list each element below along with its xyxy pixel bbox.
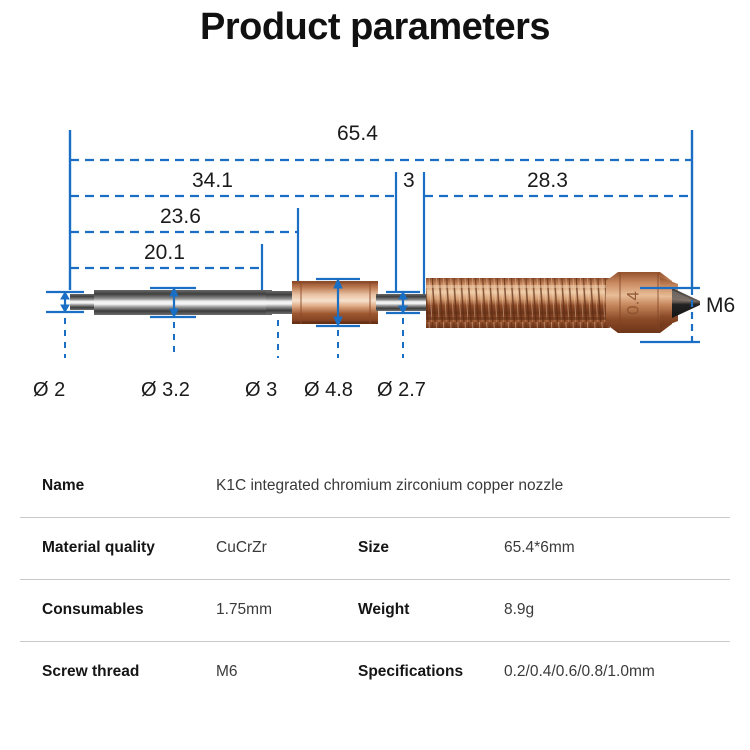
- part-threaded-section: [426, 278, 610, 328]
- dia-label-4-8: Ø 4.8: [304, 379, 353, 402]
- dim-label-34-1: 34.1: [192, 169, 233, 193]
- cell-value-weight: 8.9g: [504, 601, 534, 619]
- dim-label-20-1: 20.1: [144, 241, 185, 265]
- cell-value-size: 65.4*6mm: [504, 539, 575, 557]
- cell-value-consumables: 1.75mm: [216, 601, 272, 619]
- thread-label-m6: M6: [706, 294, 735, 318]
- cell-label-screw-thread: Screw thread: [42, 663, 139, 681]
- table-row: Name K1C integrated chromium zirconium c…: [0, 455, 750, 517]
- cell-label-weight: Weight: [358, 601, 409, 619]
- row-divider: [20, 641, 730, 642]
- cell-label-specifications: Specifications: [358, 663, 463, 681]
- row-divider: [20, 579, 730, 580]
- table-row: Consumables 1.75mm Weight 8.9g: [0, 579, 750, 641]
- cell-label-consumables: Consumables: [42, 601, 144, 619]
- drawing-canvas: 0.4: [0, 0, 750, 450]
- dim-label-23-6: 23.6: [160, 205, 201, 229]
- cell-value-name: K1C integrated chromium zirconium copper…: [216, 477, 563, 495]
- cell-label-material-quality: Material quality: [42, 539, 155, 557]
- cell-label-size: Size: [358, 539, 389, 557]
- nozzle-engraving-text: 0.4: [623, 291, 642, 315]
- dim-label-28-3: 28.3: [527, 169, 568, 193]
- dia-label-2: Ø 2: [33, 379, 65, 402]
- cell-label-name: Name: [42, 477, 84, 495]
- part-nozzle-head: 0.4: [606, 272, 700, 333]
- product-parameters-table: Name K1C integrated chromium zirconium c…: [0, 455, 750, 703]
- dim-label-3: 3: [403, 169, 415, 193]
- dia-label-3-2: Ø 3.2: [141, 379, 190, 402]
- dia-label-3: Ø 3: [245, 379, 277, 402]
- nozzle-technical-drawing: 0.4: [0, 0, 750, 450]
- cell-value-material-quality: CuCrZr: [216, 539, 267, 557]
- row-divider: [20, 517, 730, 518]
- dia-label-2-7: Ø 2.7: [377, 379, 426, 402]
- table-row: Screw thread M6 Specifications 0.2/0.4/0…: [0, 641, 750, 703]
- dim-label-total-length: 65.4: [337, 122, 378, 146]
- part-steel-shaft: [70, 290, 296, 315]
- cell-value-screw-thread: M6: [216, 663, 238, 681]
- cell-value-specifications: 0.2/0.4/0.6/0.8/1.0mm: [504, 663, 655, 681]
- table-row: Material quality CuCrZr Size 65.4*6mm: [0, 517, 750, 579]
